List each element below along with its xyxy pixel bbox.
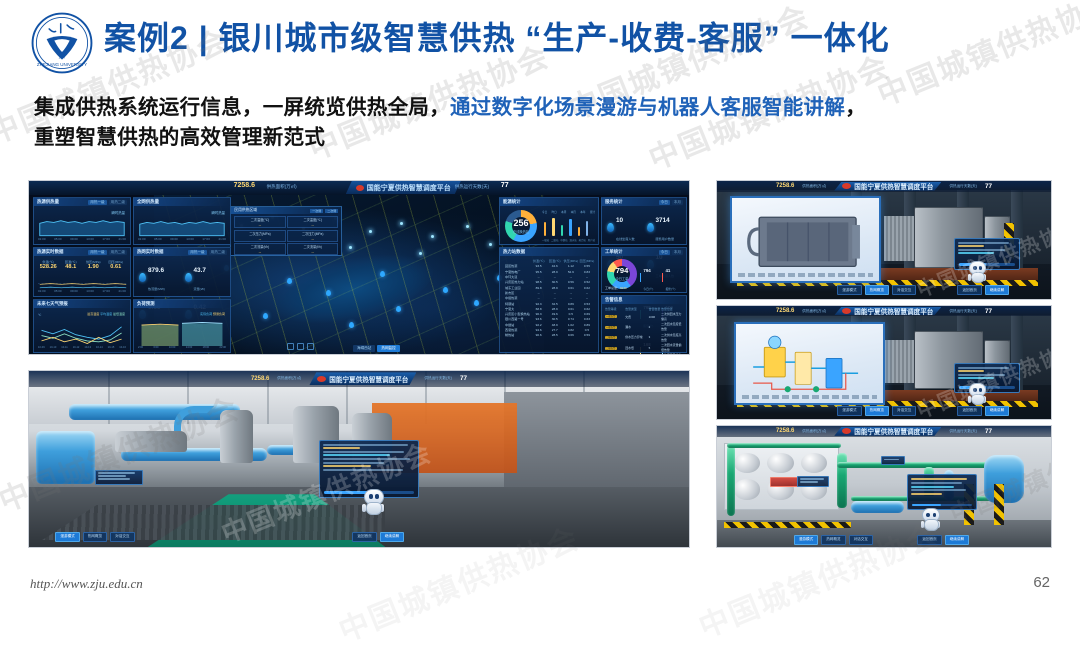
dashboard-brand: 国能宁夏供热智慧调度平台	[346, 181, 461, 194]
plant-tab-roam[interactable]: 漫游模式	[794, 535, 818, 545]
bar-area-chart	[138, 318, 226, 346]
card-legend: 最高温度 平均温度 最低温度	[87, 312, 125, 316]
popup-cell-value: --	[311, 222, 314, 227]
exchanger2-platform-title: 国能宁夏供热智慧调度平台	[854, 306, 933, 316]
popup-cell-value: --	[259, 222, 262, 227]
alarm-level-badge: 二级告警	[605, 336, 617, 339]
exchanger2-btn-home[interactable]: 返回首页	[957, 406, 981, 416]
exchanger2-tab-dialog[interactable]: 对话交互	[892, 406, 916, 416]
agent-icon	[607, 223, 614, 232]
exchanger2-robot-buttons[interactable]: 返回首页 继续讲解	[957, 406, 1009, 416]
brand-logo-icon	[842, 183, 851, 189]
exchanger1-btn-continue[interactable]: 继续讲解	[985, 285, 1009, 295]
popup-cell-value: --	[311, 236, 314, 241]
corridor-kpi-days-value: 77	[460, 375, 467, 382]
droplet-icon	[185, 273, 192, 282]
card-title: 工单统计	[605, 249, 623, 255]
subtitle-highlight: 通过数字化场景漫游与机器人客服智能讲解	[450, 96, 845, 119]
plant-kpi-days-label: 供热运行天数(天)	[949, 429, 977, 434]
corridor-hall: 7258.6 供热面积(万㎡) 国能宁夏供热智慧调度平台 供热运行天数(天) 7…	[29, 371, 689, 547]
map-zoom-icon[interactable]	[287, 343, 294, 350]
popup-tab-secondary[interactable]: 二次侧	[325, 209, 338, 213]
exchanger2-kpi-days-value: 77	[985, 308, 992, 315]
card-tab-today[interactable]: 今日	[659, 200, 670, 205]
card-unit: ℃	[38, 313, 41, 317]
card-title: 服务统计	[605, 199, 623, 205]
alarm-row[interactable]: 一般告警换热中心站1二次流量异常告警	[605, 353, 683, 355]
valve-info-tag[interactable]	[881, 456, 905, 465]
popup-cell-value: --	[259, 249, 262, 254]
corridor-mode-tabs[interactable]: 漫游模式 热网概览 对话交互	[55, 532, 134, 542]
droplet-icon	[139, 273, 146, 282]
narration-progress-bar[interactable]	[912, 504, 972, 507]
exchanger2-kpi-area-value: 7258.6	[776, 308, 794, 314]
card-tab-primary[interactable]: 用热一级	[88, 250, 106, 255]
map-tab-1[interactable]: 热网监控	[377, 345, 399, 352]
stat-item: 879.6热流量(MW)	[137, 259, 182, 295]
corridor-right-wall	[504, 392, 689, 501]
map-tab-0[interactable]: 海绵西站	[353, 345, 375, 352]
heat-exchange-flow-diagram	[747, 330, 870, 404]
corridor-platform-title: 国能宁夏供热智慧调度平台	[329, 374, 408, 384]
exchanger2-tab-overview[interactable]: 热网概览	[865, 406, 889, 416]
popup-cell-value: --	[259, 236, 262, 241]
card-network-realtime[interactable]: 热网实时数据 用热一级用热二级 879.6热流量(MW) 43.7流量(t/h)…	[133, 247, 231, 297]
exchanger1-robot-buttons[interactable]: 返回首页 继续讲解	[957, 285, 1009, 295]
exchanger1-kpi-days-label: 供热运行天数(天)	[949, 184, 977, 189]
card-heat-source-output[interactable]: 热源供热量 用热一级用热二级 瞬时热量 01:0005:0009:0013:00…	[33, 197, 131, 245]
plant-narration-bubble[interactable]	[907, 474, 977, 510]
area-chart	[138, 211, 226, 237]
card-title: 热源实时数据	[37, 249, 63, 255]
card-title: 负荷预测	[137, 301, 155, 307]
card-x-axis: 01:0005:0009:0013:0017:0021:00	[38, 289, 126, 293]
popup-cell: 二次压力(MPa)--	[287, 230, 338, 242]
corridor-topbar: 7258.6 供热面积(万㎡) 国能宁夏供热智慧调度平台 供热运行天数(天) 7…	[29, 371, 689, 387]
plant-mode-tabs[interactable]: 漫游模式 热网概览 对话交互	[794, 535, 873, 545]
slide-header: ZHEJIANG UNIVERSITY 1897 案例2 | 银川城市级智慧供热…	[0, 0, 1080, 78]
card-x-axis: 10-0910-1010-1110-1210-1310-1410-1510-16	[38, 346, 126, 349]
dashboard-platform-title: 国能宁夏供热智慧调度平台	[367, 183, 451, 193]
card-energy-stats[interactable]: 能源统计 256 在线换热站 今日 昨日 本周 本月 本年 累计 一级站 二级站…	[499, 197, 599, 245]
corridor-kpi-days-label: 供热运行天数(天)	[424, 376, 452, 381]
exchanger2-kpi-area-label: 供热面积(万㎡)	[802, 309, 826, 314]
card-heat-source-realtime[interactable]: 热源实时数据 用热一级用热二级 供温(℃) 回温(℃) 供压(MPa) 回压(M…	[33, 247, 131, 297]
zhejiang-university-logo-icon: ZHEJIANG UNIVERSITY 1897	[30, 11, 94, 75]
robot-assistant-avatar[interactable]	[921, 508, 940, 531]
brand-logo-icon	[842, 428, 851, 434]
alarm-level-badge: 一般告警	[605, 315, 617, 318]
subtitle-part1: 集成供热系统运行信息，一屏统览供热全局，	[34, 96, 450, 119]
dashboard-kpi-area-value: 7258.6	[234, 182, 255, 189]
robot-assistant-avatar[interactable]	[968, 261, 986, 283]
popup-cell: 二次压力(MPa)--	[234, 230, 285, 242]
users-icon	[647, 223, 654, 232]
card-tab-secondary[interactable]: 用热二级	[109, 250, 127, 255]
brand-logo-icon	[317, 376, 326, 382]
plant-kpi-area-value: 7258.6	[776, 428, 794, 434]
exchanger-screen-caption	[738, 273, 873, 277]
exchanger1-topbar: 7258.6 供热面积(万㎡) 国能宁夏供热智慧调度平台 供热运行天数(天) 7…	[717, 181, 1051, 192]
alarm-level-badge: 二级告警	[605, 347, 617, 350]
plant-btn-home[interactable]: 返回首页	[917, 535, 941, 545]
exchanger1-kpi-days-value: 77	[985, 183, 992, 190]
robot-assistant-avatar[interactable]	[968, 383, 986, 405]
card-weather-forecast[interactable]: 未来七天气预报 最高温度 平均温度 最低温度 ℃ 10-0910-1010-11…	[33, 299, 131, 353]
card-stat-grid: 879.6热流量(MW) 43.7流量(t/h) 0.66平均压差 0.42热用…	[137, 259, 227, 293]
table-row[interactable]: 制热站90.628.50.660.59	[503, 333, 595, 338]
exchanger2-mode-tabs[interactable]: 漫游模式 热网概览 对话交互	[837, 406, 916, 416]
exchanger1-narration-bubble[interactable]	[954, 238, 1020, 270]
exchanger1-mode-tabs[interactable]: 漫游模式 热网概览 对话交互	[837, 285, 916, 295]
energy-bar-legend: 今日 昨日 本周 本月 本年 累计	[542, 210, 595, 214]
plant-tab-overview[interactable]: 热网概览	[821, 535, 845, 545]
card-metric-row: 供温(℃) 回温(℃) 供压(MPa) 回压(MPa) 528.26 48.1 …	[37, 259, 127, 270]
card-tab-secondary[interactable]: 用热二级	[109, 200, 127, 205]
alarm-list[interactable]: 告警等级告警类型告警数量告警位置 一般告警欠费1096二次供回水压力偏高 一般告…	[605, 307, 683, 350]
exchanger-unit-diagram	[741, 203, 870, 281]
exchanger-detail-screenshot[interactable]: 7258.6 供热面积(万㎡) 国能宁夏供热智慧调度平台 供热运行天数(天) 7…	[716, 180, 1052, 300]
work-order-total: 工单总量：9240	[605, 286, 627, 290]
svg-text:ZHEJIANG UNIVERSITY: ZHEJIANG UNIVERSITY	[37, 62, 87, 67]
exchanger2-narration-bubble[interactable]	[954, 363, 1020, 393]
plant-platform-title: 国能宁夏供热智慧调度平台	[854, 426, 933, 436]
stat-item: 43.7流量(t/h)	[183, 259, 228, 295]
svg-text:1897: 1897	[58, 55, 65, 59]
heat-station-table[interactable]: 供温(℃)回温(℃)供压(MPa)回压(MPa) 园区热源93.542.61.1…	[503, 259, 595, 350]
exchanger1-tab-dialog[interactable]: 对话交互	[892, 285, 916, 295]
stat-item: 10在线坐席人数	[605, 209, 644, 245]
exchanger1-kpi-area-label: 供热面积(万㎡)	[802, 184, 826, 189]
corridor-scene-screenshot[interactable]: 7258.6 供热面积(万㎡) 国能宁夏供热智慧调度平台 供热运行天数(天) 7…	[28, 370, 690, 548]
corridor-kpi-area-value: 7258.6	[251, 376, 269, 382]
card-title: 告警信息	[605, 297, 623, 303]
energy-bar-xaxis: 一级站 二级站 中继站 混水站 热力站 用户站	[542, 238, 595, 242]
alarm-row[interactable]: 二级告警回水低5二次回水流量偏低告警	[605, 343, 683, 353]
corridor-btn-continue[interactable]: 继续讲解	[380, 532, 404, 542]
brand-logo-icon	[356, 185, 364, 191]
exchanger2-topbar: 7258.6 供热面积(万㎡) 国能宁夏供热智慧调度平台 供热运行天数(天) 7…	[717, 306, 1051, 316]
page-title: 案例2 | 银川城市级智慧供热 “生产-收费-客服” 一体化	[104, 13, 890, 59]
page-number: 62	[1033, 574, 1050, 591]
exchanger2-btn-continue[interactable]: 继续讲解	[985, 406, 1009, 416]
popup-cell: 二次流量(t/h)--	[234, 243, 285, 255]
exchanger1-tab-overview[interactable]: 热网概览	[865, 285, 889, 295]
card-load-forecast[interactable]: 负荷预测 实际负荷 预测负荷 2:006:0010:0014:0018:0022…	[133, 299, 231, 353]
dashboard-kpi-area-label: 供热面积(万㎡)	[267, 184, 297, 190]
card-heat-station-table[interactable]: 热力站数据 供温(℃)回温(℃)供压(MPa)回压(MPa) 园区热源93.54…	[499, 247, 599, 353]
corridor-tab-roam[interactable]: 漫游模式	[55, 532, 79, 542]
card-title: 未来七天气预报	[37, 301, 68, 307]
card-tab-month[interactable]: 本月	[672, 250, 683, 255]
card-legend: 实际负荷 预测负荷	[200, 312, 225, 316]
stat-item: 3714服务用户数量	[645, 209, 684, 245]
brand-logo-icon	[842, 308, 851, 314]
alarm-level-badge: 一般告警	[605, 326, 617, 329]
multi-line-chart	[38, 318, 126, 346]
map-layer-icon[interactable]	[297, 343, 304, 350]
pump-room: 7258.6 供热面积(万㎡) 国能宁夏供热智慧调度平台 供热运行天数(天) 7…	[717, 426, 1051, 547]
exchanger-flow-screenshot[interactable]: 7258.6 供热面积(万㎡) 国能宁夏供热智慧调度平台 供热运行天数(天) 7…	[716, 305, 1052, 420]
pump-room-screenshot[interactable]: 7258.6 供热面积(万㎡) 国能宁夏供热智慧调度平台 供热运行天数(天) 7…	[716, 425, 1052, 548]
dashboard-kpi-days-value: 77	[501, 182, 509, 189]
card-tab-today[interactable]: 今日	[659, 250, 670, 255]
plant-tab-dialog[interactable]: 对话交互	[849, 535, 873, 545]
energy-donut-chart: 256 在线换热站	[505, 210, 537, 242]
popup-cell: 二次温度(℃)--	[234, 216, 285, 228]
energy-bar-chart	[544, 216, 588, 236]
popup-cell: 二次温度(℃)--	[287, 216, 338, 228]
map-locate-icon[interactable]	[307, 343, 314, 350]
popup-tab-primary[interactable]: 一次侧	[310, 209, 323, 213]
work-order-donut-chart: 794 今日工单	[607, 259, 637, 289]
card-work-orders[interactable]: 工单统计 今日本月 794 今日工单 工单总量：9240 794今日(个) 41…	[601, 247, 687, 293]
popup-title: 民用供热区域	[234, 208, 257, 213]
slide-subtitle: 集成供热系统运行信息，一屏统览供热全局，通过数字化场景漫游与机器人客服智能讲解，…	[34, 93, 1054, 154]
popup-cell: 二次流量(t/h)--	[287, 243, 338, 255]
card-title: 热源供热量	[37, 199, 59, 205]
flow-diagram-screen[interactable]	[734, 322, 885, 405]
exchanger1-platform-title: 国能宁夏供热智慧调度平台	[854, 181, 933, 191]
corridor-equipment-tag[interactable]	[95, 470, 143, 485]
popup-cell-value: --	[311, 249, 314, 254]
card-alarms[interactable]: 告警信息 告警等级告警类型告警数量告警位置 一般告警欠费1096二次供回水压力偏…	[601, 295, 687, 353]
card-tab-primary[interactable]: 用热一级	[188, 250, 206, 255]
plant-robot-buttons[interactable]: 返回首页 继续讲解	[917, 535, 969, 545]
corridor-brand: 国能宁夏供热智慧调度平台	[309, 372, 416, 385]
dashboard-kpi-days-label: 供热运行天数(天)	[455, 184, 490, 190]
work-order-chips: 794今日(个) 41报修(个) 769投诉(个) 102咨询(个) 168已完…	[640, 259, 683, 290]
exchanger2-tab-roam[interactable]: 漫游模式	[837, 406, 861, 416]
subtitle-line2: 重塑智慧供热的高效管理新范式	[34, 126, 325, 149]
corridor-tab-dialog[interactable]: 对话交互	[110, 532, 134, 542]
alarm-row[interactable]: 一般告警欠费1096二次供回水压力偏高	[605, 312, 683, 322]
flow-screen-caption	[742, 395, 877, 399]
equipment-info-tag[interactable]	[797, 476, 829, 487]
dashboard-screenshot[interactable]: 7258.6 供热面积(万㎡) 国能宁夏供热智慧调度平台 供热运行天数(天) 7…	[28, 180, 690, 355]
card-tab-secondary[interactable]: 用热二级	[209, 250, 227, 255]
footer-url[interactable]: http://www.zju.edu.cn	[30, 576, 143, 592]
alarm-row[interactable]: 一般告警漏水2二次回水温度低告警	[605, 322, 683, 332]
exchanger1-kpi-area-value: 7258.6	[776, 183, 794, 189]
exchanger1-tab-roam[interactable]: 漫游模式	[837, 285, 861, 295]
exchanger2-kpi-days-label: 供热运行天数(天)	[949, 309, 977, 314]
corridor-tab-overview[interactable]: 热网概览	[83, 532, 107, 542]
plant-kpi-days-value: 77	[985, 428, 992, 435]
subtitle-part2: ，	[845, 96, 866, 119]
corridor-kpi-area-label: 供热面积(万㎡)	[277, 376, 301, 381]
corridor-btn-home[interactable]: 返回首页	[352, 532, 376, 542]
map-tab-bar[interactable]: 海绵西站 热网监控	[353, 345, 400, 352]
robot-assistant-avatar[interactable]	[362, 489, 384, 515]
map-station-popup[interactable]: 民用供热区域 一次侧 二次侧 二次温度(℃)-- 二次温度(℃)-- 二次压力(…	[230, 206, 342, 256]
exchanger-room: 7258.6 供热面积(万㎡) 国能宁夏供热智慧调度平台 供热运行天数(天) 7…	[717, 181, 1051, 299]
card-x-axis: 2:006:0010:0014:0018:0022:00	[138, 346, 226, 349]
popup-header: 民用供热区域 一次侧 二次侧	[231, 207, 341, 214]
card-service-stats[interactable]: 服务统计 今日本月 10在线坐席人数 3714服务用户数量 50在线客服 10工…	[601, 197, 687, 245]
corridor-robot-buttons[interactable]: 返回首页 继续讲解	[352, 532, 404, 542]
card-title: 热网实时数据	[137, 249, 163, 255]
card-tab-primary[interactable]: 用热一级	[88, 200, 106, 205]
pump-label-tag[interactable]	[770, 477, 798, 487]
alarm-row[interactable]: 二级告警供水压力异常3二次供水温度高告警	[605, 333, 683, 343]
exchanger-room: 7258.6 供热面积(万㎡) 国能宁夏供热智慧调度平台 供热运行天数(天) 7…	[717, 306, 1051, 419]
exchanger1-btn-home[interactable]: 返回首页	[957, 285, 981, 295]
exchanger2-brand: 国能宁夏供热智慧调度平台	[834, 307, 941, 315]
card-x-axis: 01:0005:0009:0013:0017:0021:00	[38, 237, 126, 241]
card-x-axis: 01:0005:0009:0013:0017:0021:00	[138, 237, 226, 241]
area-chart	[38, 211, 126, 237]
plant-topbar: 7258.6 供热面积(万㎡) 国能宁夏供热智慧调度平台 供热运行天数(天) 7…	[717, 426, 1051, 437]
card-title: 全网供热量	[137, 199, 159, 205]
card-tab-month[interactable]: 本月	[672, 200, 683, 205]
plant-kpi-area-label: 供热面积(万㎡)	[802, 429, 826, 434]
plant-btn-continue[interactable]: 继续讲解	[945, 535, 969, 545]
map-controls[interactable]	[287, 343, 314, 350]
exchanger-info-screen[interactable]	[730, 196, 881, 283]
plant-brand: 国能宁夏供热智慧调度平台	[834, 427, 941, 436]
card-title: 能源统计	[503, 199, 521, 205]
card-network-output[interactable]: 全网供热量 瞬时热量 01:0005:0009:0013:0017:0021:0…	[133, 197, 231, 245]
service-stat-grid: 10在线坐席人数 3714服务用户数量 50在线客服 10工单处理人数	[605, 209, 683, 241]
card-title: 热力站数据	[503, 249, 525, 255]
exchanger1-brand: 国能宁夏供热智慧调度平台	[834, 182, 941, 191]
